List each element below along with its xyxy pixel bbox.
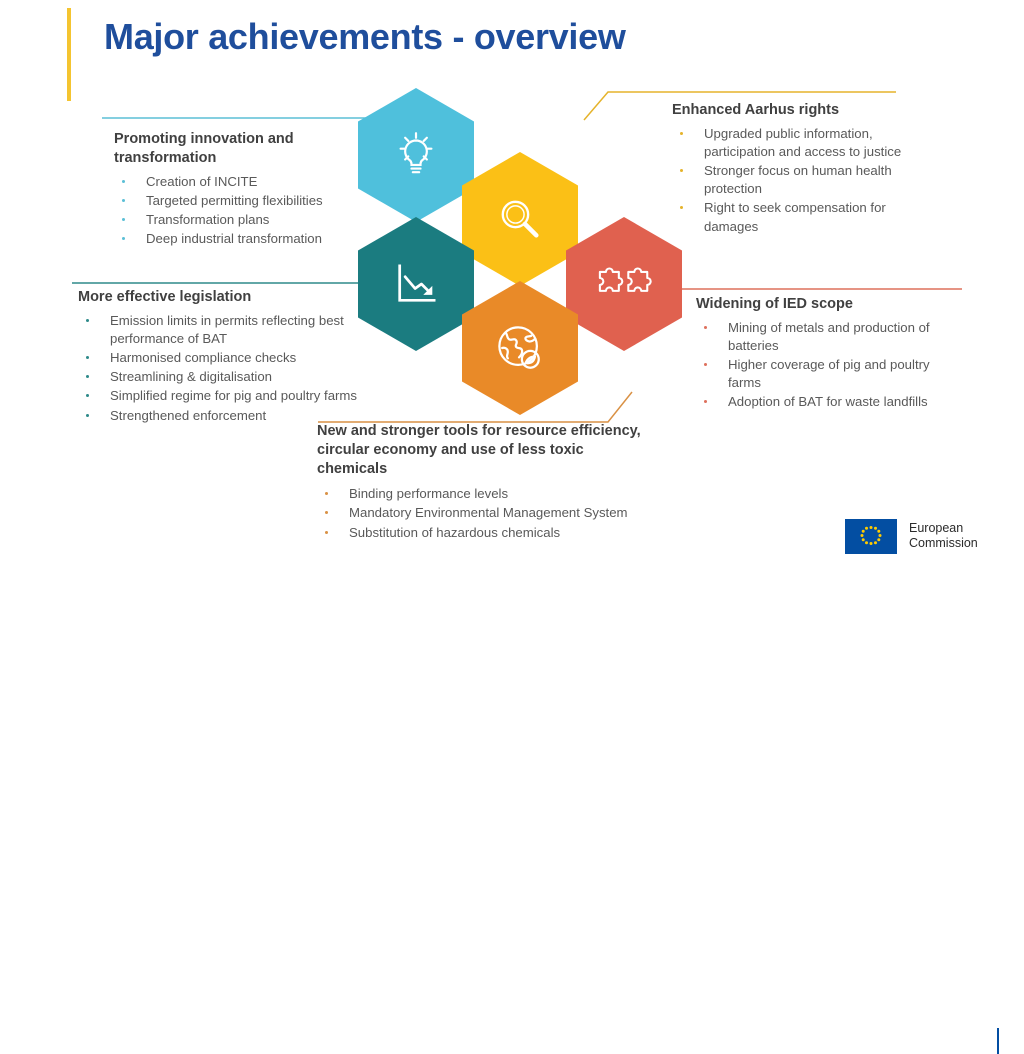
eu-logo-line1: European <box>909 521 978 536</box>
block-scope: Widening of IED scope Mining of metals a… <box>696 295 964 413</box>
list-item: Higher coverage of pig and poultry farms <box>696 356 964 392</box>
list-item: Adoption of BAT for waste landfills <box>696 393 964 411</box>
hexagon-tools[interactable] <box>462 281 578 415</box>
block-legislation-list: Emission limits in permits reflecting be… <box>78 312 396 424</box>
title-accent-bar <box>67 8 71 101</box>
block-innovation: Promoting innovation and transformation … <box>114 130 354 250</box>
list-item: Emission limits in permits reflecting be… <box>78 312 396 348</box>
hexagon-scope[interactable] <box>566 217 682 351</box>
list-item: Simplified regime for pig and poultry fa… <box>78 387 396 405</box>
eu-stars <box>845 519 897 554</box>
hexagon-innovation[interactable] <box>358 88 474 222</box>
list-item: Mandatory Environmental Management Syste… <box>317 504 652 522</box>
list-item: Transformation plans <box>114 211 354 229</box>
list-item: Upgraded public information, participati… <box>672 125 937 161</box>
hexagon-aarhus[interactable] <box>462 152 578 286</box>
eu-flag-icon <box>845 519 897 554</box>
list-item: Binding performance levels <box>317 485 652 503</box>
list-item: Harmonised compliance checks <box>78 349 396 367</box>
european-commission-logo: European Commission <box>845 512 1005 560</box>
block-aarhus-heading: Enhanced Aarhus rights <box>672 101 937 120</box>
magnifier-icon <box>491 190 549 248</box>
block-scope-list: Mining of metals and production of batte… <box>696 319 964 411</box>
list-item: Stronger focus on human health protectio… <box>672 162 937 198</box>
list-item: Targeted permitting flexibilities <box>114 192 354 210</box>
block-tools-heading: New and stronger tools for resource effi… <box>317 422 652 479</box>
eu-logo-text: European Commission <box>909 521 978 551</box>
block-scope-heading: Widening of IED scope <box>696 295 964 314</box>
hexagon-cluster <box>352 84 688 420</box>
list-item: Right to seek compensation for damages <box>672 199 937 235</box>
list-item: Creation of INCITE <box>114 173 354 191</box>
eu-logo-line2: Commission <box>909 536 978 551</box>
list-item: Mining of metals and production of batte… <box>696 319 964 355</box>
list-item: Deep industrial transformation <box>114 230 354 248</box>
block-tools: New and stronger tools for resource effi… <box>317 422 652 543</box>
block-tools-list: Binding performance levels Mandatory Env… <box>317 485 652 541</box>
block-legislation: More effective legislation Emission limi… <box>78 288 396 426</box>
slide-canvas: Major achievements - overview <box>0 0 1024 576</box>
page-title: Major achievements - overview <box>104 16 626 58</box>
block-aarhus: Enhanced Aarhus rights Upgraded public i… <box>672 101 937 237</box>
globe-leaf-icon <box>490 318 550 378</box>
block-aarhus-list: Upgraded public information, participati… <box>672 125 937 235</box>
connector-innovation <box>100 105 390 127</box>
block-innovation-heading: Promoting innovation and transformation <box>114 130 354 168</box>
eu-logo-rule <box>997 1028 999 1054</box>
list-item: Substitution of hazardous chemicals <box>317 524 652 542</box>
puzzle-pieces-icon <box>593 256 655 312</box>
list-item: Streamlining & digitalisation <box>78 368 396 386</box>
block-legislation-heading: More effective legislation <box>78 288 396 307</box>
block-innovation-list: Creation of INCITE Targeted permitting f… <box>114 173 354 248</box>
lightbulb-icon <box>387 126 445 184</box>
